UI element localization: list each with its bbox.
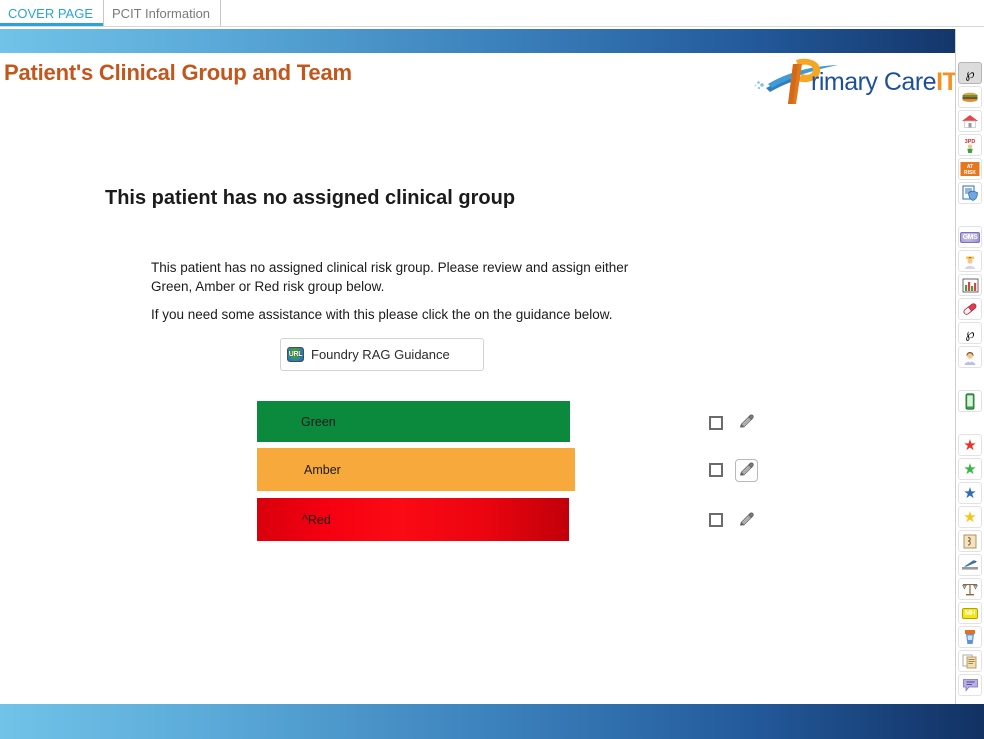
star-green-icon[interactable]: ★ [958, 458, 982, 480]
rail-divider-1 [956, 206, 984, 226]
risk-group-label-red: ^Red [302, 513, 331, 527]
scales-glyph [961, 582, 979, 597]
pencil-icon [738, 512, 755, 529]
mh-badge-icon[interactable]: MH [958, 602, 982, 624]
nurse-glyph [961, 253, 979, 269]
star-green-glyph: ★ [963, 462, 976, 477]
gms-badge-label: GMS [960, 232, 981, 243]
risk-group-row-amber[interactable]: Amber [257, 448, 575, 491]
risk-group-row-red[interactable]: ^Red [257, 498, 569, 541]
risk-group-row-green[interactable]: Green [257, 401, 570, 442]
svg-text:3PD: 3PD [965, 139, 976, 145]
document-shield-icon[interactable] [958, 182, 982, 204]
primary-care-it-logo: rimary CareIT [752, 54, 947, 110]
person-avatar-glyph [961, 349, 979, 365]
at-risk-glyph: AT RISK [960, 161, 980, 177]
copy-documents-glyph [962, 654, 979, 669]
risk-group-edit-button-amber[interactable] [735, 459, 758, 482]
top-banner [0, 29, 984, 53]
bar-chart-icon[interactable] [958, 274, 982, 296]
tab-pcit-information-label: PCIT Information [112, 6, 210, 21]
foundry-rag-guidance-link[interactable]: URL Foundry RAG Guidance [280, 338, 484, 371]
burger-glyph [961, 90, 979, 104]
risk-group-label-green: Green [301, 415, 336, 429]
tab-cover-page[interactable]: COVER PAGE [0, 0, 104, 26]
pencil-icon [738, 462, 755, 479]
url-icon-text: URL [289, 351, 303, 358]
rail-divider-3 [956, 414, 984, 434]
mobile-device-glyph [964, 393, 976, 410]
tab-pcit-information[interactable]: PCIT Information [104, 0, 221, 26]
star-yellow-icon[interactable]: ★ [958, 506, 982, 528]
pencil-icon [738, 414, 755, 431]
pcit-logo-icon-2[interactable]: ℘ [958, 322, 982, 344]
3pd-glyph: 3PD [961, 137, 979, 154]
scroll-document-icon[interactable] [958, 530, 982, 552]
risk-group-label-amber: Amber [304, 463, 341, 477]
svg-text:RISK: RISK [964, 170, 976, 176]
pcit-logo-icon[interactable]: ℘ [958, 62, 982, 84]
scroll-document-glyph [962, 534, 978, 549]
pcit-logo-glyph: ℘ [965, 67, 974, 80]
bottom-banner [0, 704, 984, 739]
person-avatar-icon[interactable] [958, 346, 982, 368]
instruction-paragraph-2: If you need some assistance with this pl… [151, 305, 651, 324]
bottle-icon[interactable] [958, 626, 982, 648]
foundry-rag-guidance-label: Foundry RAG Guidance [311, 347, 450, 362]
3pd-person-icon[interactable]: 3PD [958, 134, 982, 156]
star-red-icon[interactable]: ★ [958, 434, 982, 456]
house-icon[interactable] [958, 110, 982, 132]
bottle-glyph [963, 629, 977, 645]
risk-group-checkbox-red[interactable] [709, 513, 723, 527]
at-risk-icon[interactable]: AT RISK [958, 158, 982, 180]
no-clinical-group-heading: This patient has no assigned clinical gr… [105, 187, 515, 210]
logo-wordmark: rimary CareIT [811, 68, 957, 97]
mh-badge-label: MH [962, 608, 978, 619]
star-blue-glyph: ★ [963, 486, 976, 501]
mobile-device-icon[interactable] [958, 390, 982, 412]
pen-icon[interactable] [958, 554, 982, 576]
risk-group-edit-button-green[interactable] [735, 411, 758, 434]
pill-glyph [961, 302, 979, 316]
right-icon-rail: ℘ 3PD [955, 29, 984, 704]
house-glyph [961, 114, 979, 129]
star-yellow-glyph: ★ [963, 510, 976, 525]
copy-documents-icon[interactable] [958, 650, 982, 672]
url-globe-icon: URL [287, 347, 304, 362]
tab-cover-page-label: COVER PAGE [8, 6, 93, 21]
tab-strip: COVER PAGE PCIT Information [0, 0, 984, 27]
speech-bubble-icon[interactable] [958, 674, 982, 696]
burger-icon[interactable] [958, 86, 982, 108]
star-red-glyph: ★ [963, 438, 976, 453]
pen-glyph [961, 558, 979, 572]
gms-badge-icon[interactable]: GMS [958, 226, 982, 248]
scales-of-justice-icon[interactable] [958, 578, 982, 600]
nurse-icon[interactable] [958, 250, 982, 272]
main-content: This patient has no assigned clinical gr… [0, 113, 955, 704]
instruction-paragraph-1: This patient has no assigned clinical ri… [151, 258, 651, 296]
page-title: Patient's Clinical Group and Team [4, 60, 352, 86]
risk-group-checkbox-amber[interactable] [709, 463, 723, 477]
pcit-logo-glyph-2: ℘ [965, 327, 974, 340]
star-blue-icon[interactable]: ★ [958, 482, 982, 504]
bar-chart-glyph [962, 278, 979, 293]
pill-icon[interactable] [958, 298, 982, 320]
risk-group-edit-button-red[interactable] [735, 509, 758, 532]
rail-divider-2 [956, 370, 984, 390]
page-root: COVER PAGE PCIT Information Patient's Cl… [0, 0, 984, 739]
risk-group-checkbox-green[interactable] [709, 416, 723, 430]
speech-bubble-glyph [962, 678, 979, 692]
document-shield-glyph [961, 185, 979, 201]
logo-text-primary: rimary Care [811, 68, 936, 96]
